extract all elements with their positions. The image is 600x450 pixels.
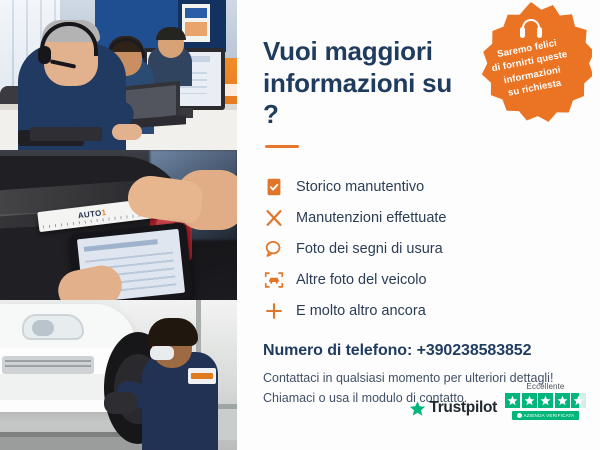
magnifier-icon — [263, 238, 285, 260]
mechanic-uniform-badge — [188, 368, 216, 384]
phone-number[interactable]: +390238583852 — [417, 342, 532, 359]
feature-label: Foto dei segni di usura — [296, 241, 443, 257]
list-item: Manutenzioni effettuate — [263, 207, 578, 229]
plus-icon — [263, 300, 285, 322]
photo-workshop — [0, 300, 237, 450]
star-filled — [555, 393, 570, 408]
foreground-operator-hand — [112, 124, 142, 140]
trustpilot-logo: Trustpilot — [409, 399, 497, 420]
photo-call-center — [0, 0, 237, 150]
feature-label: E molto altro ancora — [296, 303, 426, 319]
phone-label: Numero di telefono: — [263, 342, 412, 359]
list-item: Altre foto del veicolo — [263, 269, 578, 291]
feature-label: Manutenzioni effettuate — [296, 210, 446, 226]
clipboard-check-icon — [263, 176, 285, 198]
star-partial — [571, 393, 586, 408]
foreground-operator-headset-cup — [38, 46, 51, 64]
photo-column: AUTO1 — [0, 0, 237, 450]
trustpilot-star-icon — [409, 400, 426, 417]
trustpilot-stars — [505, 393, 586, 408]
title-underline — [265, 145, 299, 148]
verified-company-badge: AZIENDA VERIFICATA — [512, 411, 580, 420]
tools-cross-icon — [263, 207, 285, 229]
mechanic-hair — [148, 318, 198, 346]
car-grille — [2, 356, 94, 374]
feature-label: Altre foto del veicolo — [296, 272, 427, 288]
star-filled — [538, 393, 553, 408]
strip-logo: AUTO1 — [77, 208, 106, 220]
headline-line-1: Vuoi maggiori — [263, 36, 433, 66]
trustpilot-widget[interactable]: Trustpilot Eccellente AZIENDA VERIFICATA — [409, 382, 586, 420]
star-filled — [522, 393, 537, 408]
trustpilot-rating-label: Eccellente — [527, 382, 565, 391]
mechanic-glove — [104, 392, 138, 414]
car-frame-icon — [263, 269, 285, 291]
wall-poster — [182, 4, 210, 42]
content-panel: Saremo felici di fornirti queste informa… — [237, 0, 600, 450]
mechanic-face-mask — [150, 346, 174, 360]
star-filled — [505, 393, 520, 408]
car-headlight — [22, 314, 84, 340]
list-item: Foto dei segni di usura — [263, 238, 578, 260]
feature-label: Storico manutentivo — [296, 179, 424, 195]
trustpilot-name: Trustpilot — [429, 399, 497, 417]
phone-number-line[interactable]: Numero di telefono: +390238583852 — [263, 342, 578, 360]
verified-label: AZIENDA VERIFICATA — [524, 413, 575, 418]
list-item: Storico manutentivo — [263, 176, 578, 198]
car-bumper — [0, 374, 116, 400]
promo-banner: AUTO1 — [0, 0, 600, 450]
page-title: Vuoi maggiori informazioni su ? — [263, 36, 473, 131]
headset-icon — [519, 19, 543, 41]
headline-line-2: informazioni su ? — [263, 68, 452, 130]
list-item: E molto altro ancora — [263, 300, 578, 322]
check-circle-icon — [517, 413, 522, 418]
keyboard — [30, 127, 102, 141]
trustpilot-rating: Eccellente AZIENDA VERIFICATA — [505, 382, 586, 420]
request-info-badge: Saremo felici di fornirti queste informa… — [470, 2, 592, 128]
photo-vehicle-inspection: AUTO1 — [0, 150, 237, 300]
feature-list: Storico manutentivo Manutenzioni effettu… — [263, 176, 578, 322]
